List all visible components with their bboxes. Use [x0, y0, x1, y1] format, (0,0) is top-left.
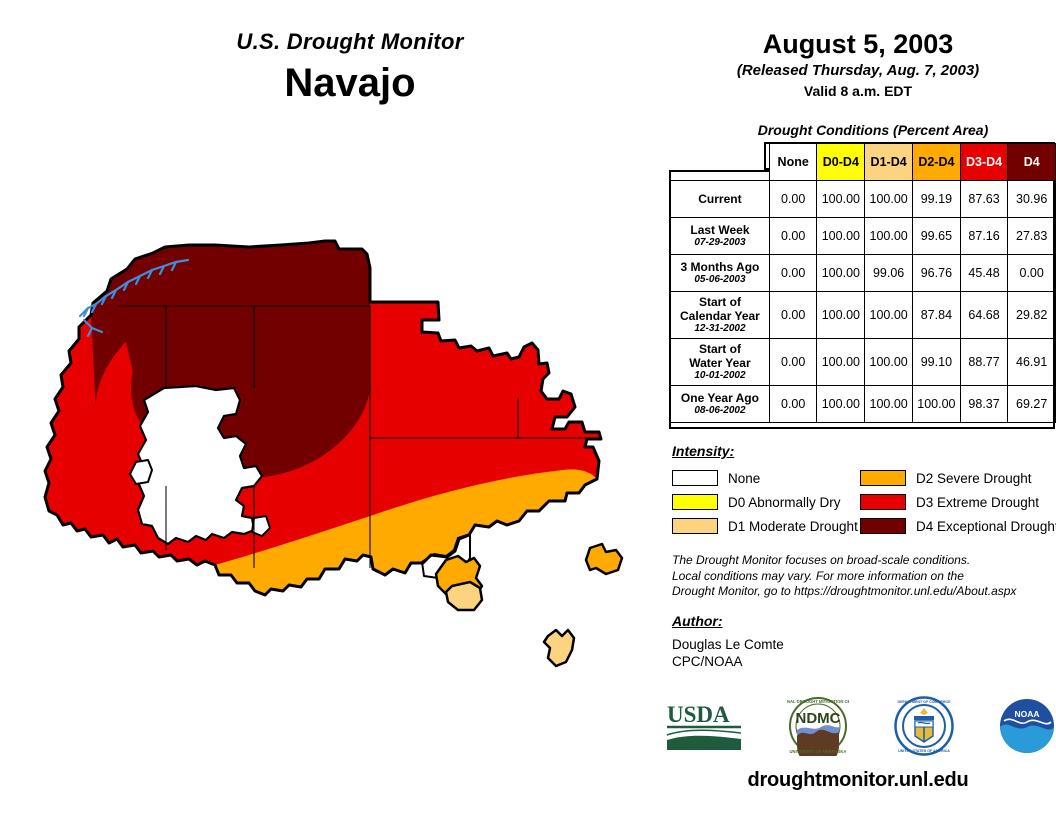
svg-text:USDA: USDA — [667, 702, 730, 727]
author-block: Douglas Le Comte CPC/NOAA — [672, 636, 784, 670]
table-cell: 100.00 — [913, 386, 961, 423]
table-cell: 0.00 — [769, 181, 817, 218]
author-name: Douglas Le Comte — [672, 636, 784, 653]
table-header-d3-d4: D3-D4 — [960, 144, 1008, 181]
svg-text:DEPARTMENT OF COMMERCE: DEPARTMENT OF COMMERCE — [897, 700, 951, 704]
release-note: (Released Thursday, Aug. 7, 2003) — [660, 61, 1056, 81]
legend-label: D4 Exceptional Drought — [916, 519, 1056, 534]
disclaimer-line-2: Local conditions may vary. For more info… — [672, 569, 1052, 585]
table-corner-cell — [671, 144, 770, 181]
table-cell: 98.37 — [960, 386, 1008, 423]
svg-text:NATIONAL DROUGHT MITIGATION CE: NATIONAL DROUGHT MITIGATION CENTER — [787, 699, 849, 704]
svg-text:UNIVERSITY OF NEBRASKA: UNIVERSITY OF NEBRASKA — [790, 749, 847, 754]
table-header-d4: D4 — [1008, 144, 1056, 181]
table-cell: 100.00 — [817, 339, 865, 386]
table-row-date: 08-06-2002 — [673, 405, 767, 417]
disclaimer-line-3: Drought Monitor, go to https://droughtmo… — [672, 584, 1052, 600]
legend-column-left: NoneD0 Abnormally DryD1 Moderate Drought — [672, 466, 858, 538]
ndmc-logo[interactable]: NDMC NATIONAL DROUGHT MITIGATION CENTER … — [787, 696, 849, 756]
table-row-label: Start ofWater Year10-01-2002 — [671, 339, 770, 386]
table-cell: 99.06 — [865, 255, 913, 292]
table-cell: 100.00 — [817, 386, 865, 423]
author-label: Author: — [672, 613, 723, 629]
table-cell: 88.77 — [960, 339, 1008, 386]
table-row: Start ofCalendar Year12-31-20020.00100.0… — [671, 292, 1056, 339]
disclaimer-line-1: The Drought Monitor focuses on broad-sca… — [672, 553, 1052, 569]
parcel-d2-east — [586, 544, 622, 574]
legend-swatch — [672, 470, 718, 486]
legend-swatch — [672, 518, 718, 534]
table-cell: 0.00 — [1008, 255, 1056, 292]
legend-swatch — [860, 518, 906, 534]
site-url[interactable]: droughtmonitor.unl.edu — [660, 769, 1056, 792]
page-title-area: Navajo — [150, 58, 550, 108]
table-cell: 100.00 — [865, 386, 913, 423]
table-row-date: 10-01-2002 — [673, 370, 767, 382]
table-row-date: 07-29-2003 — [673, 237, 767, 249]
page-title-program: U.S. Drought Monitor — [150, 28, 550, 56]
map-title-block: U.S. Drought Monitor Navajo — [150, 28, 550, 108]
table-cell: 100.00 — [865, 339, 913, 386]
table-cell: 100.00 — [817, 292, 865, 339]
table-cell: 100.00 — [865, 181, 913, 218]
table-cell: 69.27 — [1008, 386, 1056, 423]
table-caption: Drought Conditions (Percent Area) — [690, 122, 1056, 138]
usdc-seal[interactable]: DEPARTMENT OF COMMERCE UNITED STATES OF … — [894, 696, 954, 756]
table-cell: 0.00 — [769, 218, 817, 255]
table-row: Last Week07-29-20030.00100.00100.0099.65… — [671, 218, 1056, 255]
legend-swatch — [860, 470, 906, 486]
table-row: One Year Ago08-06-20020.00100.00100.0010… — [671, 386, 1056, 423]
table-cell: 29.82 — [1008, 292, 1056, 339]
table-cell: 100.00 — [817, 218, 865, 255]
legend-item: D0 Abnormally Dry — [672, 490, 858, 514]
map-isolated-parcels — [436, 544, 622, 666]
table-cell: 87.63 — [960, 181, 1008, 218]
table-cell: 0.00 — [769, 386, 817, 423]
table-cell: 100.00 — [865, 292, 913, 339]
table-header-d1-d4: D1-D4 — [865, 144, 913, 181]
svg-text:UNITED STATES OF AMERICA: UNITED STATES OF AMERICA — [898, 749, 950, 753]
table-cell: 64.68 — [960, 292, 1008, 339]
author-org: CPC/NOAA — [672, 653, 784, 670]
svg-text:NDMC: NDMC — [796, 710, 841, 727]
disclaimer-text: The Drought Monitor focuses on broad-sca… — [672, 553, 1052, 600]
valid-time: Valid 8 a.m. EDT — [660, 82, 1056, 101]
table-cell: 0.00 — [769, 339, 817, 386]
table-row-label: Current — [671, 181, 770, 218]
table-row-label: 3 Months Ago05-06-2003 — [671, 255, 770, 292]
table-header-d2-d4: D2-D4 — [913, 144, 961, 181]
usda-logo[interactable]: USDA — [665, 700, 743, 752]
table-row: Current0.00100.00100.0099.1987.6330.96 — [671, 181, 1056, 218]
table-header-d0-d4: D0-D4 — [817, 144, 865, 181]
legend-label: D3 Extreme Drought — [916, 495, 1039, 510]
table-row-date: 12-31-2002 — [673, 323, 767, 335]
legend-label: D2 Severe Drought — [916, 471, 1032, 486]
svg-text:NOAA: NOAA — [1014, 709, 1039, 719]
release-header: August 5, 2003 (Released Thursday, Aug. … — [660, 28, 1056, 101]
legend-title: Intensity: — [672, 443, 734, 459]
table-cell: 100.00 — [865, 218, 913, 255]
table-cell: 99.65 — [913, 218, 961, 255]
table-cell: 0.00 — [769, 255, 817, 292]
release-date: August 5, 2003 — [660, 28, 1056, 61]
legend-item: None — [672, 466, 858, 490]
table-cell: 30.96 — [1008, 181, 1056, 218]
parcel-d1-center — [446, 582, 482, 610]
table-cell: 0.00 — [769, 292, 817, 339]
table-cell: 46.91 — [1008, 339, 1056, 386]
table-cell: 87.16 — [960, 218, 1008, 255]
legend-item: D4 Exceptional Drought — [860, 514, 1056, 538]
table-cell: 100.00 — [817, 255, 865, 292]
noaa-logo[interactable]: NOAA — [998, 697, 1056, 755]
legend-label: D0 Abnormally Dry — [728, 495, 841, 510]
legend-column-right: D2 Severe DroughtD3 Extreme DroughtD4 Ex… — [860, 466, 1056, 538]
legend-item: D3 Extreme Drought — [860, 490, 1056, 514]
table-row: Start ofWater Year10-01-20020.00100.0010… — [671, 339, 1056, 386]
table-cell: 87.84 — [913, 292, 961, 339]
table-header-row: NoneD0-D4D1-D4D2-D4D3-D4D4 — [671, 144, 1056, 181]
parcel-d1-southeast — [544, 630, 574, 666]
table-row-label: Start ofCalendar Year12-31-2002 — [671, 292, 770, 339]
table-header-none: None — [769, 144, 817, 181]
logo-strip: USDA NDMC NATIONAL DROUGHT MITIGATION CE… — [665, 695, 1056, 757]
table-cell: 96.76 — [913, 255, 961, 292]
table-cell: 99.19 — [913, 181, 961, 218]
legend-swatch — [860, 494, 906, 510]
legend-swatch — [672, 494, 718, 510]
table-cell: 45.48 — [960, 255, 1008, 292]
legend-label: D1 Moderate Drought — [728, 519, 858, 534]
drought-conditions-table: NoneD0-D4D1-D4D2-D4D3-D4D4Current0.00100… — [670, 143, 1056, 423]
table-cell: 99.10 — [913, 339, 961, 386]
legend-item: D2 Severe Drought — [860, 466, 1056, 490]
table-row: 3 Months Ago05-06-20030.00100.0099.0696.… — [671, 255, 1056, 292]
legend-label: None — [728, 471, 760, 486]
table-row-date: 05-06-2003 — [673, 274, 767, 286]
table-row-label: One Year Ago08-06-2002 — [671, 386, 770, 423]
table-cell: 27.83 — [1008, 218, 1056, 255]
table-cell: 100.00 — [817, 181, 865, 218]
drought-map — [18, 238, 648, 693]
table-row-label: Last Week07-29-2003 — [671, 218, 770, 255]
legend-item: D1 Moderate Drought — [672, 514, 858, 538]
